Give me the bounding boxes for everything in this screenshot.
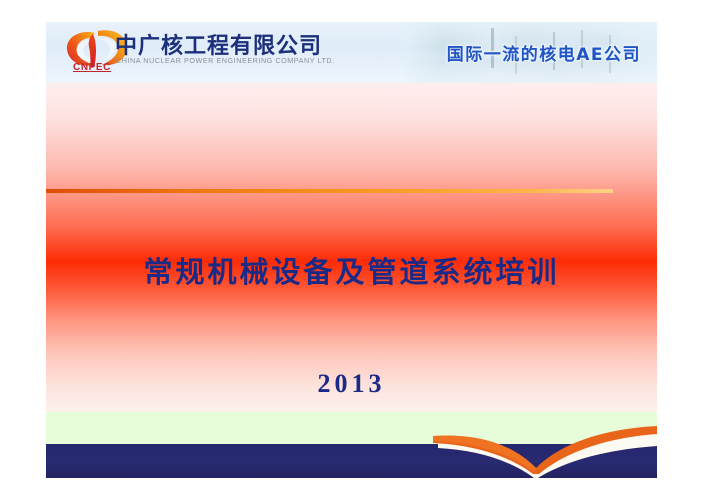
slide-body: 常规机械设备及管道系统培训 2013 xyxy=(46,83,657,413)
slide-header: CNPEC 中广核工程有限公司 CHINA NUCLEAR POWER ENGI… xyxy=(46,22,657,83)
orange-accent-divider xyxy=(46,189,613,193)
presentation-slide: CNPEC 中广核工程有限公司 CHINA NUCLEAR POWER ENGI… xyxy=(46,22,657,478)
orange-checkmark-swoosh-icon xyxy=(376,400,657,478)
company-slogan-banner: 国际一流的核电AE公司 xyxy=(447,40,641,65)
cnpec-wordmark: CNPEC xyxy=(73,62,111,73)
slide-year: 2013 xyxy=(46,369,657,399)
company-name-en: CHINA NUCLEAR POWER ENGINEERING COMPANY … xyxy=(116,56,335,65)
slide-title: 常规机械设备及管道系统培训 xyxy=(46,249,657,291)
